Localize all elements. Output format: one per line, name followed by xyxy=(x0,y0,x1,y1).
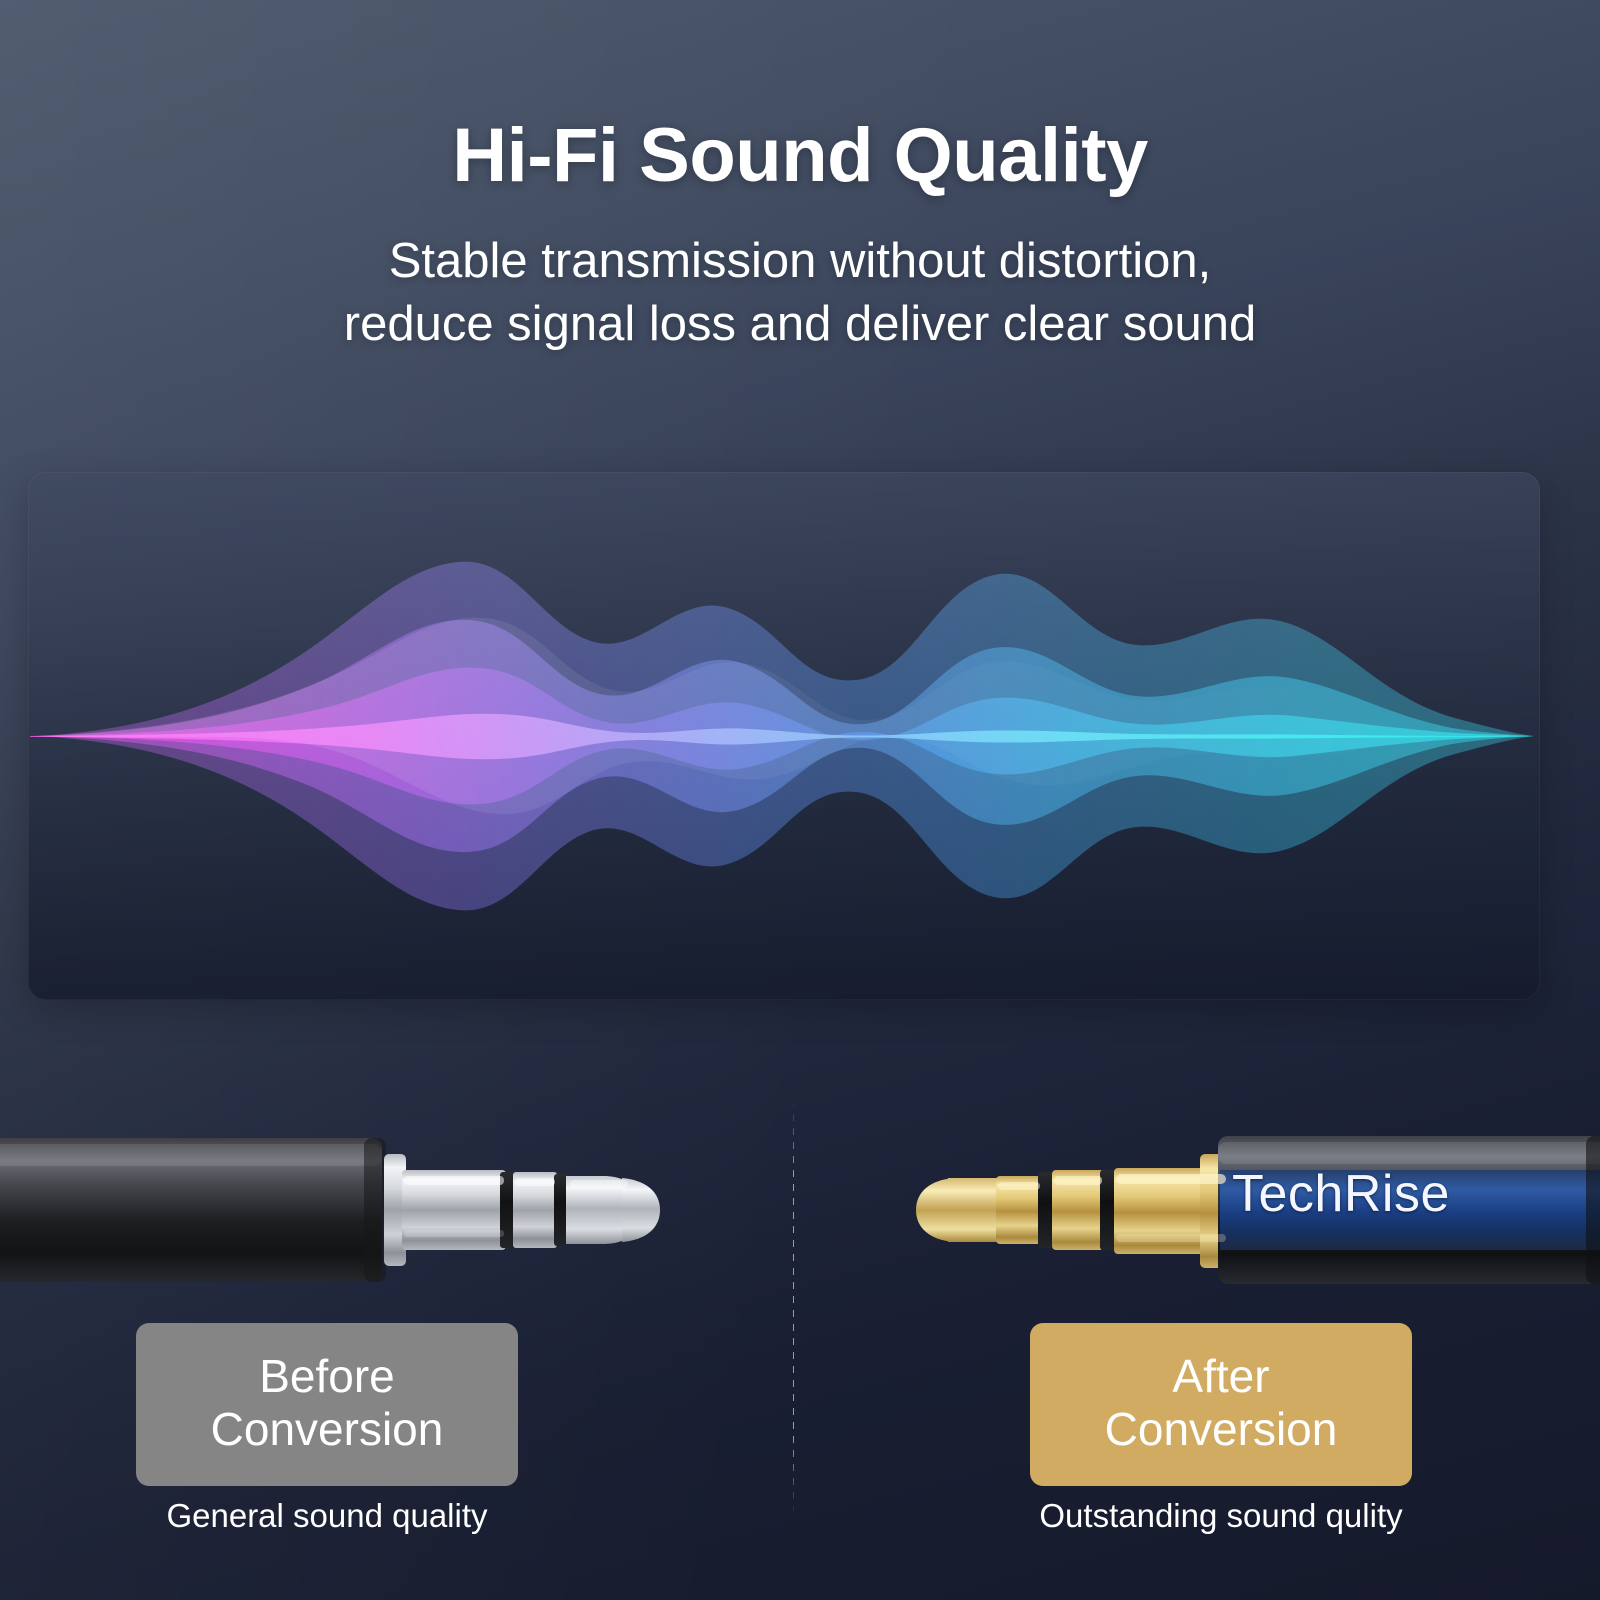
subtitle-line-1: Stable transmission without distortion, xyxy=(0,230,1600,293)
badge-after-conversion: After Conversion xyxy=(1030,1323,1412,1486)
brand-label: TechRise xyxy=(1232,1164,1450,1224)
badge-before-line-1: Before xyxy=(211,1350,444,1402)
badge-before-conversion: Before Conversion xyxy=(136,1323,518,1486)
badge-after-line-1: After xyxy=(1105,1350,1338,1402)
caption-after: Outstanding sound qulity xyxy=(1030,1497,1412,1535)
subtitle-line-2: reduce signal loss and deliver clear sou… xyxy=(0,293,1600,356)
page-subtitle: Stable transmission without distortion, … xyxy=(0,230,1600,355)
waveform-panel xyxy=(28,472,1540,1000)
page-title: Hi-Fi Sound Quality xyxy=(0,118,1600,194)
badge-after-line-2: Conversion xyxy=(1105,1403,1338,1455)
vertical-dashed-divider xyxy=(793,1100,794,1520)
badge-before-line-2: Conversion xyxy=(211,1403,444,1455)
caption-before: General sound quality xyxy=(136,1497,518,1535)
silver-3.5mm-plug xyxy=(0,1118,682,1303)
header: Hi-Fi Sound Quality Stable transmission … xyxy=(0,0,1600,355)
waveform-graphic xyxy=(28,472,1540,1000)
